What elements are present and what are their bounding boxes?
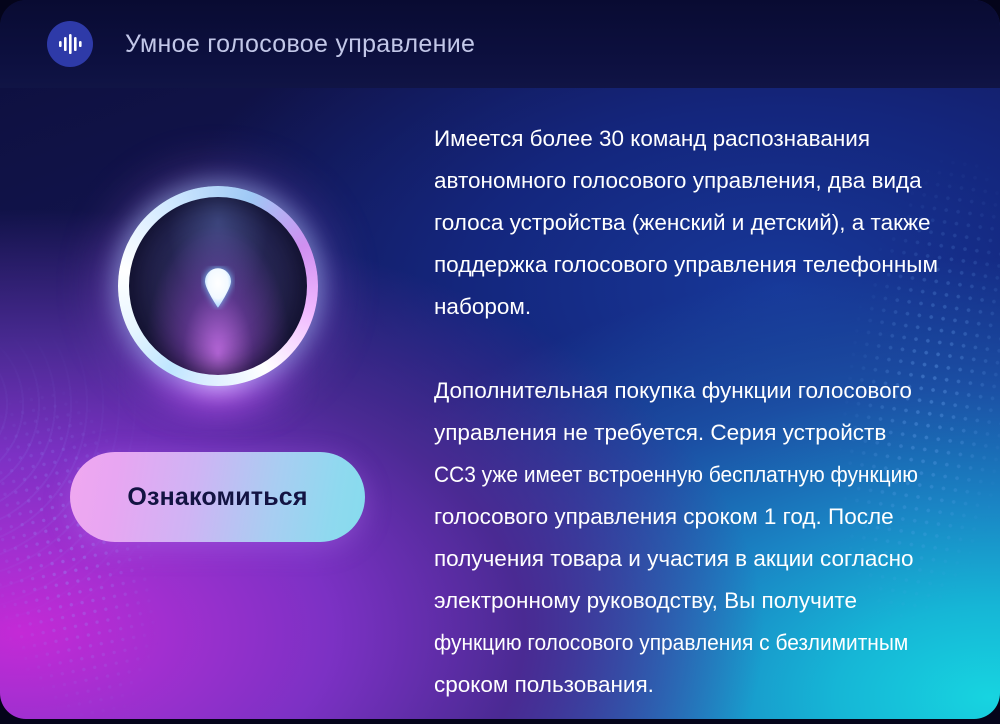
p2-line-8: сроком пользования. <box>434 672 654 697</box>
card-header: Умное голосовое управление <box>0 0 1000 88</box>
description-text: Имеется более 30 команд распознавания ав… <box>434 118 962 706</box>
paragraph-1: Имеется более 30 команд распознавания ав… <box>434 118 962 328</box>
p2-line-6: электронному руководству, Вы получите <box>434 588 857 613</box>
promo-card: Умное голосовое управление Ознакомиться <box>0 0 1000 719</box>
paragraph-spacer <box>434 328 962 370</box>
paragraph-2: Дополнительная покупка функции голосовог… <box>434 370 962 706</box>
voice-orb-graphic <box>118 186 318 386</box>
p2-line-4: голосового управления сроком 1 год. Посл… <box>434 504 894 529</box>
p2-line-5: получения товара и участия в акции согла… <box>434 546 914 571</box>
page-title: Умное голосовое управление <box>125 30 475 59</box>
p2-line-7: функцию голосового управления с безлимит… <box>434 622 908 664</box>
explore-button[interactable]: Ознакомиться <box>70 452 365 542</box>
voice-wave-icon <box>47 21 93 67</box>
voice-pin-icon <box>201 266 235 310</box>
p2-line-1: Дополнительная покупка функции голосовог… <box>434 378 912 403</box>
p2-line-2: управления не требуется. Серия устройств <box>434 420 886 445</box>
p2-line-3: CC3 уже имеет встроенную бесплатную функ… <box>434 454 918 496</box>
